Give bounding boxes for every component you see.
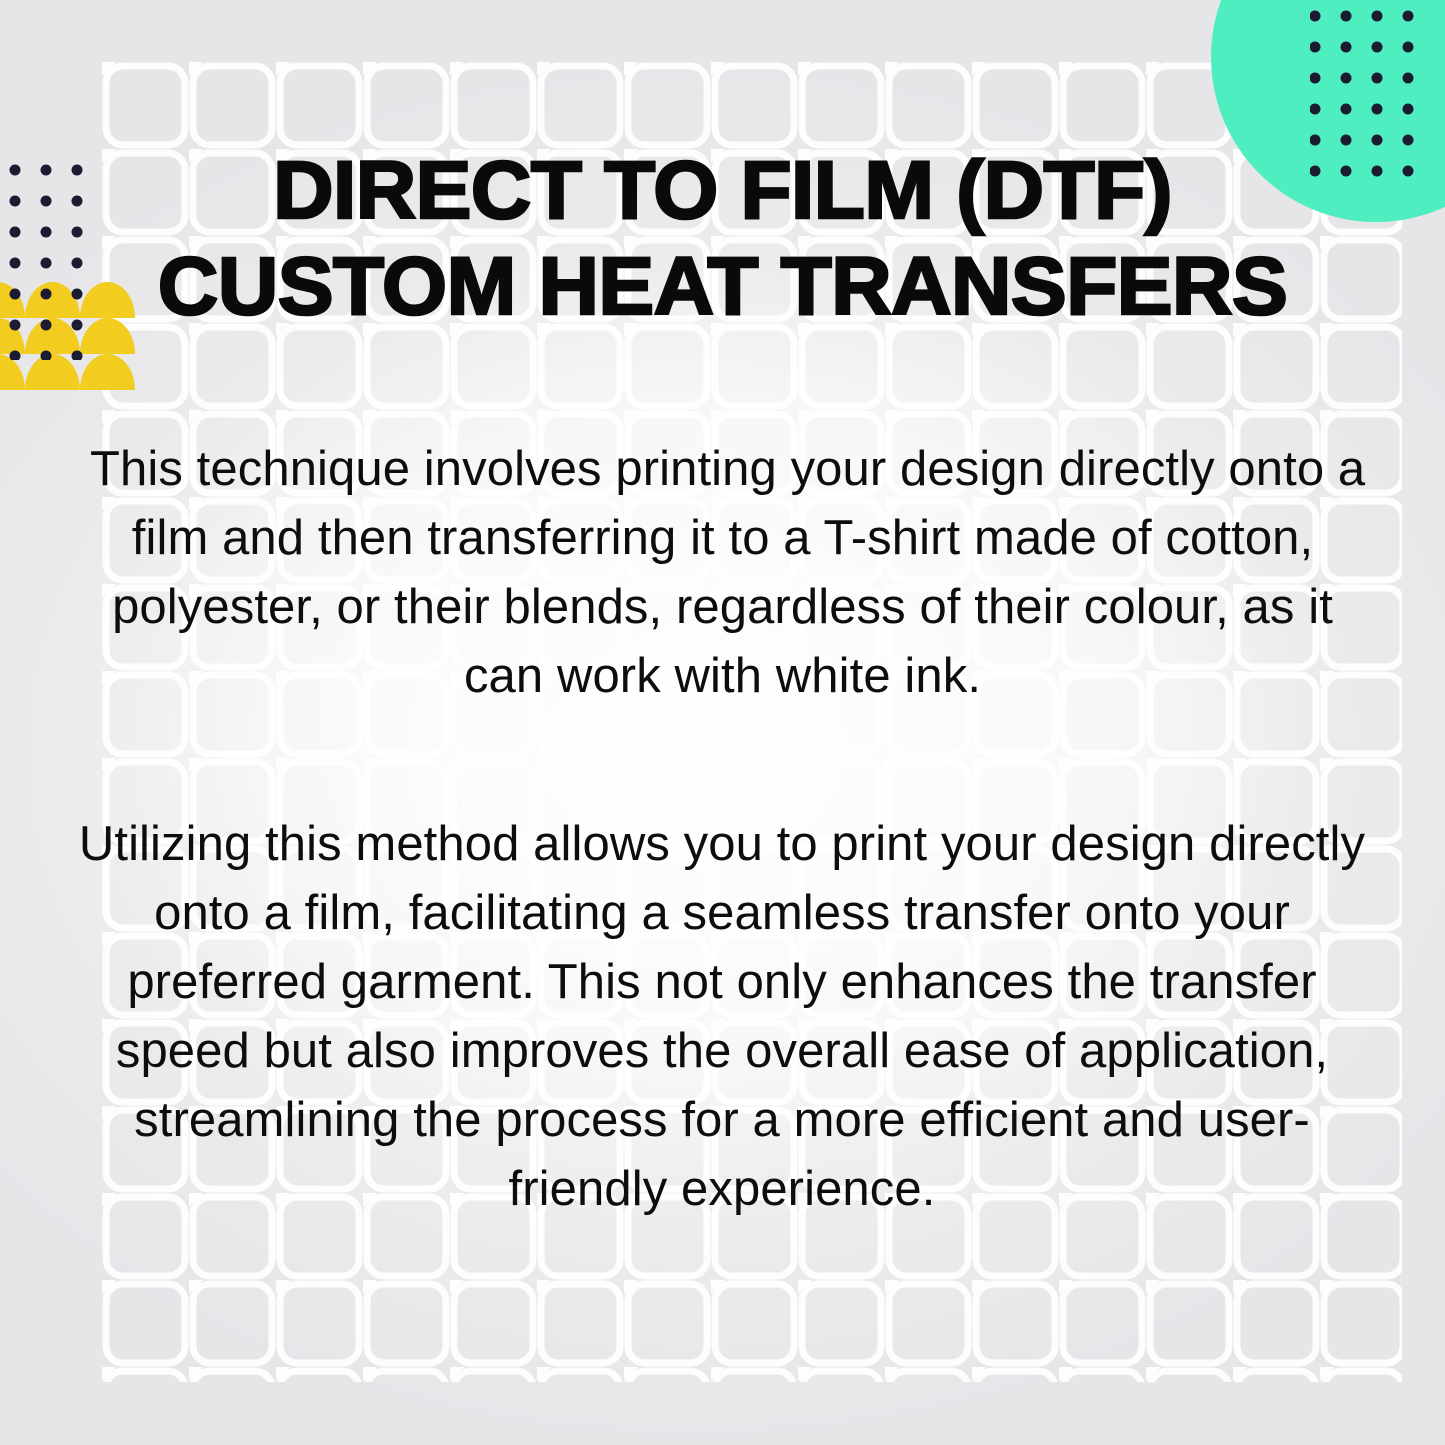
paragraph-2-line-1: Utilizing this method allows you to prin…: [77, 810, 1367, 879]
paragraph-2-line-2: onto a film, facilitating a seamless tra…: [77, 879, 1367, 948]
page-title-line-2: CUSTOM HEAT TRANSFERS: [158, 239, 1287, 335]
paragraph-1-line-2: film and then transferring it to a T-shi…: [90, 504, 1355, 573]
paragraph-2-line-3: preferred garment. This not only enhance…: [77, 948, 1367, 1017]
page-title: DIRECT TO FILM (DTF) CUSTOM HEAT TRANSFE…: [158, 143, 1287, 335]
paragraph-2-line-6: friendly experience.: [77, 1155, 1367, 1224]
paragraph-1-line-4: can work with white ink.: [90, 642, 1355, 711]
page-title-line-1: DIRECT TO FILM (DTF): [158, 143, 1287, 239]
paragraph-1-line-1: This technique involves printing your de…: [90, 435, 1355, 504]
paragraph-2: Utilizing this method allows you to prin…: [77, 810, 1367, 1224]
paragraph-2-line-4: speed but also improves the overall ease…: [77, 1017, 1367, 1086]
body-text-container: This technique involves printing your de…: [90, 435, 1355, 1224]
paragraph-1: This technique involves printing your de…: [90, 435, 1355, 711]
paragraph-2-line-5: streamlining the process for a more effi…: [77, 1086, 1367, 1155]
paragraph-1-line-3: polyester, or their blends, regardless o…: [90, 573, 1355, 642]
content-container: DIRECT TO FILM (DTF) CUSTOM HEAT TRANSFE…: [0, 0, 1445, 1445]
